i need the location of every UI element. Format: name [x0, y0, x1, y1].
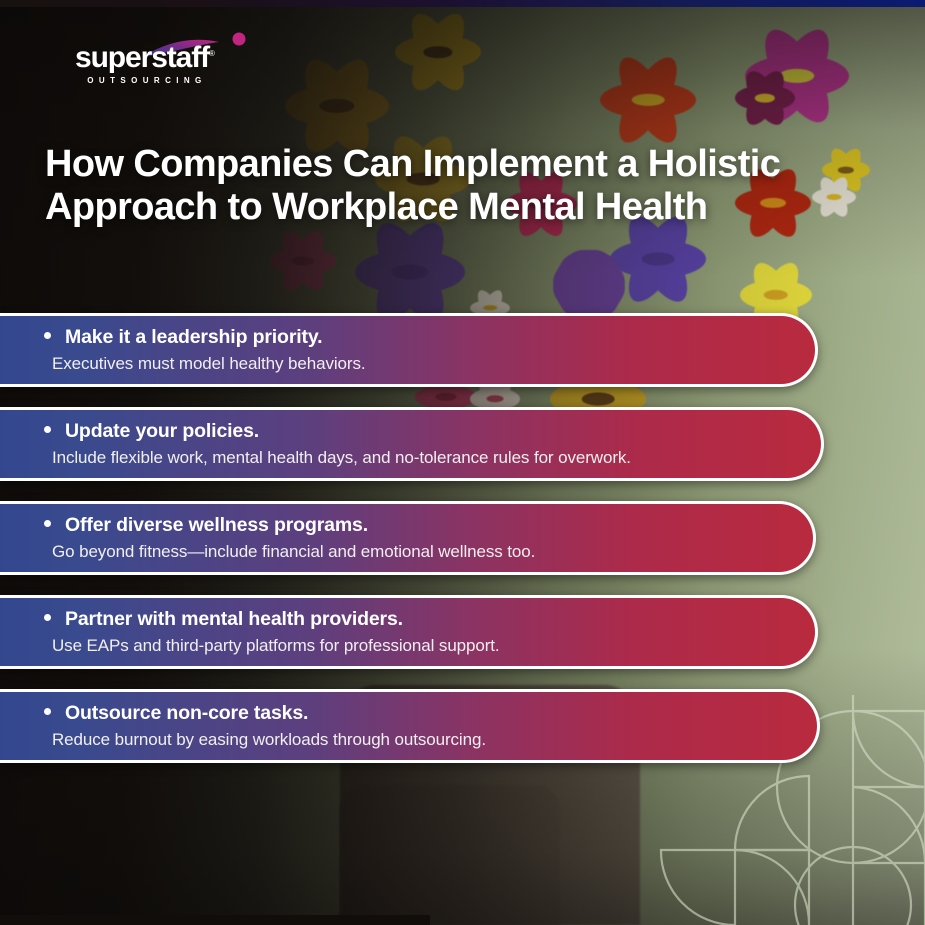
- tip-heading-row-2: Update your policies.: [44, 420, 775, 442]
- tip-heading-1: Make it a leadership priority.: [65, 326, 322, 348]
- tip-description-4: Use EAPs and third-party platforms for p…: [44, 636, 769, 656]
- page-title: How Companies Can Implement a Holistic A…: [45, 143, 835, 230]
- bullet-icon: [44, 708, 51, 715]
- tip-description-5: Reduce burnout by easing workloads throu…: [44, 730, 771, 750]
- tip-heading-3: Offer diverse wellness programs.: [65, 514, 368, 536]
- bullet-icon: [44, 426, 51, 433]
- tip-bar-5[interactable]: Outsource non-core tasks. Reduce burnout…: [0, 689, 820, 763]
- tip-heading-4: Partner with mental health providers.: [65, 608, 403, 630]
- tips-list: Make it a leadership priority. Executive…: [0, 313, 925, 783]
- bullet-icon: [44, 332, 51, 339]
- tip-bar-2[interactable]: Update your policies. Include flexible w…: [0, 407, 824, 481]
- logo-wordmark: superstaff®: [75, 43, 215, 73]
- top-accent-strip: [0, 0, 925, 7]
- tip-bar-3[interactable]: Offer diverse wellness programs. Go beyo…: [0, 501, 816, 575]
- bullet-icon: [44, 614, 51, 621]
- tip-description-3: Go beyond fitness—include financial and …: [44, 542, 767, 562]
- tip-heading-row-3: Offer diverse wellness programs.: [44, 514, 767, 536]
- logo-dot-icon: [233, 33, 246, 46]
- tip-bar-1[interactable]: Make it a leadership priority. Executive…: [0, 313, 818, 387]
- logo-tagline: OUTSOURCING: [75, 76, 215, 85]
- tip-description-1: Executives must model healthy behaviors.: [44, 354, 769, 374]
- tip-heading-2: Update your policies.: [65, 420, 259, 442]
- tip-heading-row-1: Make it a leadership priority.: [44, 326, 769, 348]
- tip-description-2: Include flexible work, mental health day…: [44, 448, 775, 468]
- infographic-canvas: superstaff® OUTSOURCING How Companies Ca…: [0, 0, 925, 925]
- tip-bar-4[interactable]: Partner with mental health providers. Us…: [0, 595, 818, 669]
- bullet-icon: [44, 520, 51, 527]
- tip-heading-row-4: Partner with mental health providers.: [44, 608, 769, 630]
- tip-heading-5: Outsource non-core tasks.: [65, 702, 308, 724]
- registered-mark: ®: [209, 49, 215, 58]
- bottom-accent-strip: [0, 915, 430, 925]
- superstaff-logo[interactable]: superstaff® OUTSOURCING: [75, 43, 215, 85]
- tip-heading-row-5: Outsource non-core tasks.: [44, 702, 771, 724]
